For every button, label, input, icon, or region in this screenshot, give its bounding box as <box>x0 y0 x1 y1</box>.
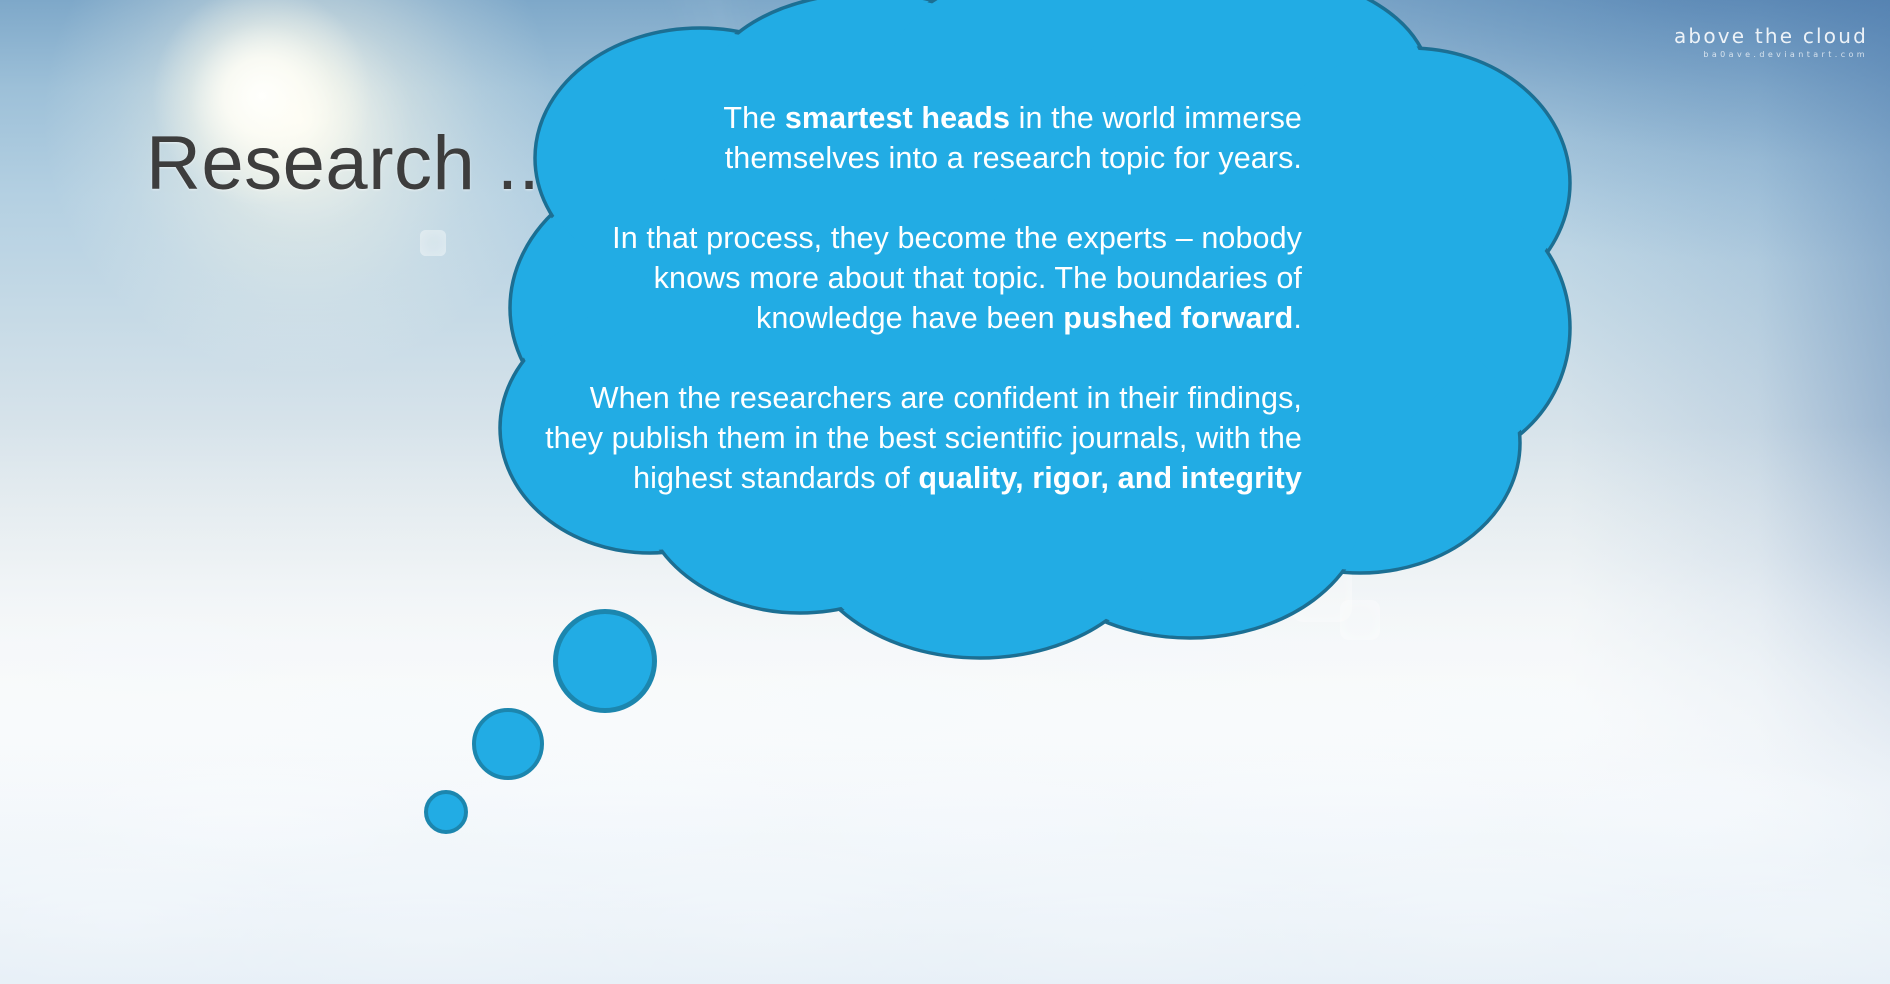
thought-trail-bubble-large <box>553 609 657 713</box>
slide-canvas: above the cloud ba0ave.deviantart.com Re… <box>0 0 1890 984</box>
watermark-url: ba0ave.deviantart.com <box>1674 51 1868 59</box>
p1-seg-1: The <box>723 101 784 135</box>
paragraph-gap-1 <box>560 178 1302 218</box>
bubble-paragraph-2: In that process, they become the experts… <box>560 218 1302 338</box>
p1-seg-2-bold: smartest heads <box>785 101 1010 135</box>
thought-bubble-text: The smartest heads in the world immerse … <box>560 98 1302 498</box>
bubble-paragraph-3: When the researchers are confident in th… <box>542 378 1302 498</box>
bubble-paragraph-1: The smartest heads in the world immerse … <box>560 98 1302 178</box>
paragraph-gap-2 <box>560 338 1302 378</box>
p2-seg-2-bold: pushed forward <box>1063 301 1293 335</box>
thought-trail-bubble-small <box>424 790 468 834</box>
p2-seg-3: . <box>1293 301 1302 335</box>
watermark-title: above the cloud <box>1674 26 1868 46</box>
p3-seg-2-bold: quality, rigor, and integrity <box>918 461 1302 495</box>
watermark: above the cloud ba0ave.deviantart.com <box>1674 26 1868 59</box>
thought-trail-bubble-medium <box>472 708 544 780</box>
